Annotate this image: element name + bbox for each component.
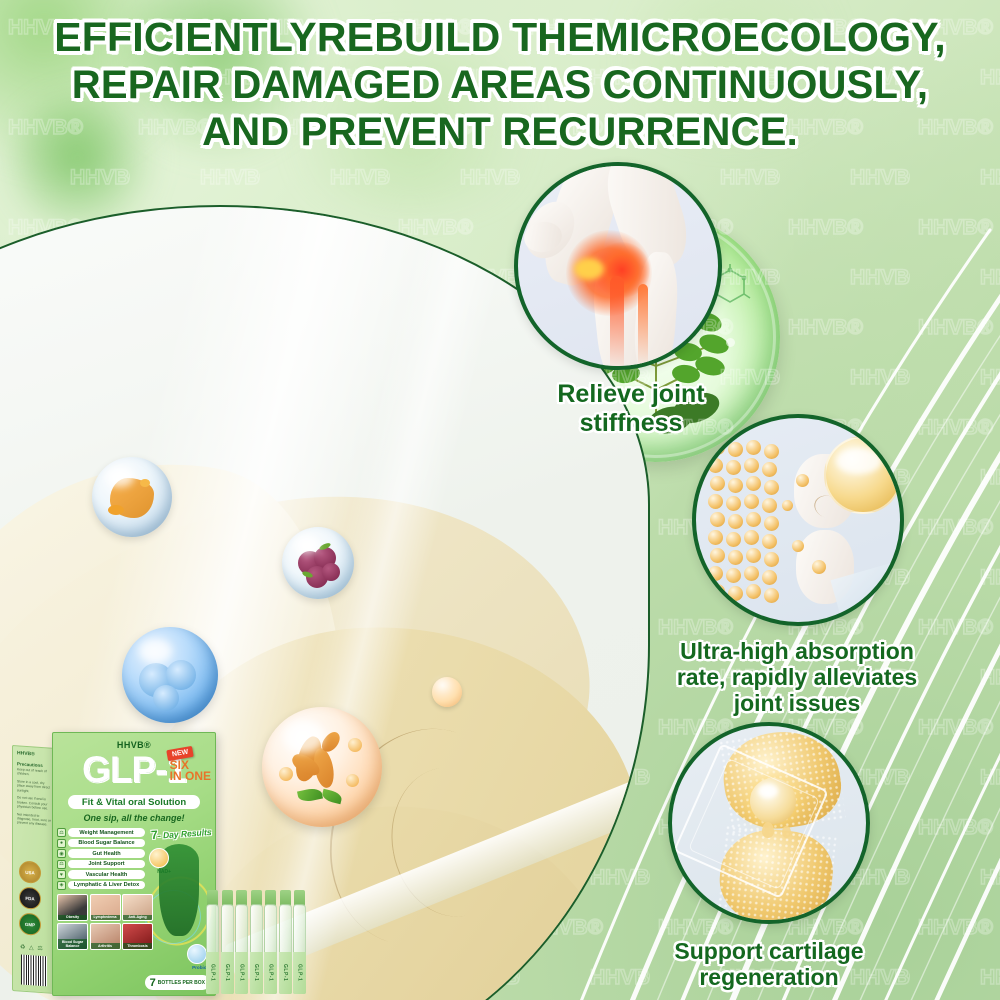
bottles-count: 7	[150, 977, 156, 989]
condition-photo: Anti-Aging	[122, 894, 153, 921]
feature-caption-ultra-high-absorption: Ultra-high absorption rate, rapidly alle…	[632, 638, 962, 717]
vial: GLP-1	[279, 890, 292, 994]
photo-caption: Obesity	[58, 915, 87, 920]
probiotic-icon	[187, 944, 207, 964]
headline-line-2: REPAIR DAMAGED AREAS CONTINUOUSLY,	[0, 62, 1000, 109]
product-slogan: One sip, all the change!	[53, 813, 215, 823]
product-package: HHVB® Precautions Keep out of reach of c…	[8, 730, 308, 998]
package-side-panel: HHVB® Precautions Keep out of reach of c…	[12, 745, 56, 994]
condition-photo: Arthritis	[90, 923, 121, 950]
vial-label: GLP-1	[282, 964, 288, 981]
vial: GLP-1	[206, 890, 219, 994]
vial: GLP-1	[250, 890, 263, 994]
results-text: - Day Results	[158, 827, 212, 841]
benefit-item: ● Blood Sugar Balance	[57, 839, 145, 848]
vial-label: GLP-1	[210, 964, 216, 981]
vial: GLP-1	[293, 890, 306, 994]
caption-line: stiffness	[580, 409, 683, 437]
photo-caption: Anti-Aging	[123, 915, 152, 920]
usa-badge-icon: USA	[19, 860, 41, 884]
vial-label: GLP-1	[268, 964, 274, 981]
vial-label: GLP-1	[224, 964, 230, 981]
benefit-label: Gut Health	[68, 849, 145, 857]
benefits-list: ⚖ Weight Management ● Blood Sugar Balanc…	[53, 828, 145, 891]
benefit-item: ♥ Vascular Health	[57, 870, 145, 879]
feature-caption-support-cartilage-regeneration: Support cartilage regeneration	[604, 938, 934, 990]
benefit-item: ◈ Lymphatic & Liver Detox	[57, 881, 145, 890]
blue-gel-sphere-icon	[122, 627, 218, 723]
benefit-label: Joint Support	[68, 860, 145, 868]
benefit-item: ⚖ Joint Support	[57, 860, 145, 869]
condition-photo-grid: Obesity Lymphedema Anti-Aging Blood Suga…	[57, 894, 153, 950]
bottles-text: BOTTLES PER BOX	[158, 980, 205, 986]
package-front-panel: HHVB® GLP-1 NEW SIX IN ONE Fit & Vital o…	[52, 732, 216, 996]
berry-sphere-icon	[282, 527, 354, 599]
bottles-per-box-badge: 7 BOTTLES PER BOX	[145, 975, 210, 990]
caption-line: Support cartilage	[674, 938, 863, 964]
product-name-block: GLP-1 NEW SIX IN ONE	[53, 749, 215, 791]
certification-badges: USA FDA GMP	[19, 860, 41, 940]
benefit-label: Weight Management	[68, 828, 145, 836]
condition-photo: Lymphedema	[90, 894, 121, 921]
leaf-icon: ◈	[57, 881, 66, 890]
gmp-badge-icon: GMP	[19, 912, 41, 936]
feature-support-cartilage-regeneration: Support cartilage regeneration	[668, 722, 934, 990]
photo-caption: Lymphedema	[91, 915, 120, 920]
benefit-label: Lymphatic & Liver Detox	[68, 881, 145, 889]
six-in-one-badge: SIX IN ONE	[170, 760, 211, 783]
vial-row: GLP-1 GLP-1 GLP-1 GLP-1 GLP-1 GLP-1 GLP-…	[206, 882, 310, 994]
caption-line: rate, rapidly alleviates	[677, 664, 917, 690]
fda-badge-icon: FDA	[19, 886, 41, 910]
product-subtitle: Fit & Vital oral Solution	[68, 795, 200, 809]
seven-day-results-badge: 7- Day Results	[151, 824, 212, 842]
headline-line-1: EFFICIENTLYREBUILD THEMICROECOLOGY,	[0, 14, 1000, 62]
bone-icon: ⚖	[57, 860, 66, 869]
vial: GLP-1	[264, 890, 277, 994]
condition-photo: Obesity	[57, 894, 88, 921]
vial: GLP-1	[221, 890, 234, 994]
photo-caption: Arthritis	[91, 943, 120, 948]
benefit-label: Vascular Health	[68, 870, 145, 878]
droplet-icon: ●	[57, 839, 66, 848]
vial-label: GLP-1	[297, 964, 303, 981]
benefit-item: ◉ Gut Health	[57, 849, 145, 858]
photo-caption: Blood Sugar Balance	[58, 939, 87, 948]
condition-photo: Thrombosis	[122, 923, 153, 950]
barcode-icon	[21, 955, 47, 987]
nad-icon	[149, 848, 169, 868]
caption-line: joint issues	[734, 690, 861, 716]
photo-caption: Thrombosis	[123, 943, 152, 948]
amber-droplet-icon	[432, 677, 462, 707]
page-headline: EFFICIENTLYREBUILD THEMICROECOLOGY, REPA…	[0, 14, 1000, 156]
vial-label: GLP-1	[253, 964, 259, 981]
benefit-label: Blood Sugar Balance	[68, 839, 145, 847]
in-one-label: IN ONE	[170, 771, 211, 782]
side-precautions-text: Do not use if seal is broken. Consult yo…	[13, 792, 55, 811]
caption-line: Relieve joint	[557, 380, 704, 408]
nad-label: NAD+	[157, 869, 171, 875]
scale-icon: ⚖	[57, 828, 66, 837]
recycle-symbols-icon: ♻ △ ⚖	[20, 943, 44, 952]
caption-line: regeneration	[699, 964, 838, 990]
feature-relieve-joint-stiffness: Relieve joint stiffness	[514, 162, 776, 437]
headline-line-3: AND PREVENT RECURRENCE.	[0, 109, 1000, 156]
caption-line: Ultra-high absorption	[680, 638, 914, 664]
condition-photo: Blood Sugar Balance	[57, 923, 88, 950]
stomach-icon: ◉	[57, 849, 66, 858]
feature-ultra-high-absorption: Ultra-high absorption rate, rapidly alle…	[692, 414, 962, 717]
side-precautions-text: Store in a cool, dry place away from dir…	[13, 776, 55, 795]
side-precautions-text: Not intended to diagnose, treat, cure or…	[13, 808, 55, 827]
vial: GLP-1	[235, 890, 248, 994]
feature-image-gold-molecules-cartilage	[692, 414, 904, 626]
heart-icon: ♥	[57, 870, 66, 879]
benefit-item: ⚖ Weight Management	[57, 828, 145, 837]
vial-label: GLP-1	[239, 964, 245, 981]
honey-sphere-icon	[92, 457, 172, 537]
feature-image-golden-mesh-knee	[668, 722, 870, 924]
feature-image-knee-joint-pain	[514, 162, 722, 370]
